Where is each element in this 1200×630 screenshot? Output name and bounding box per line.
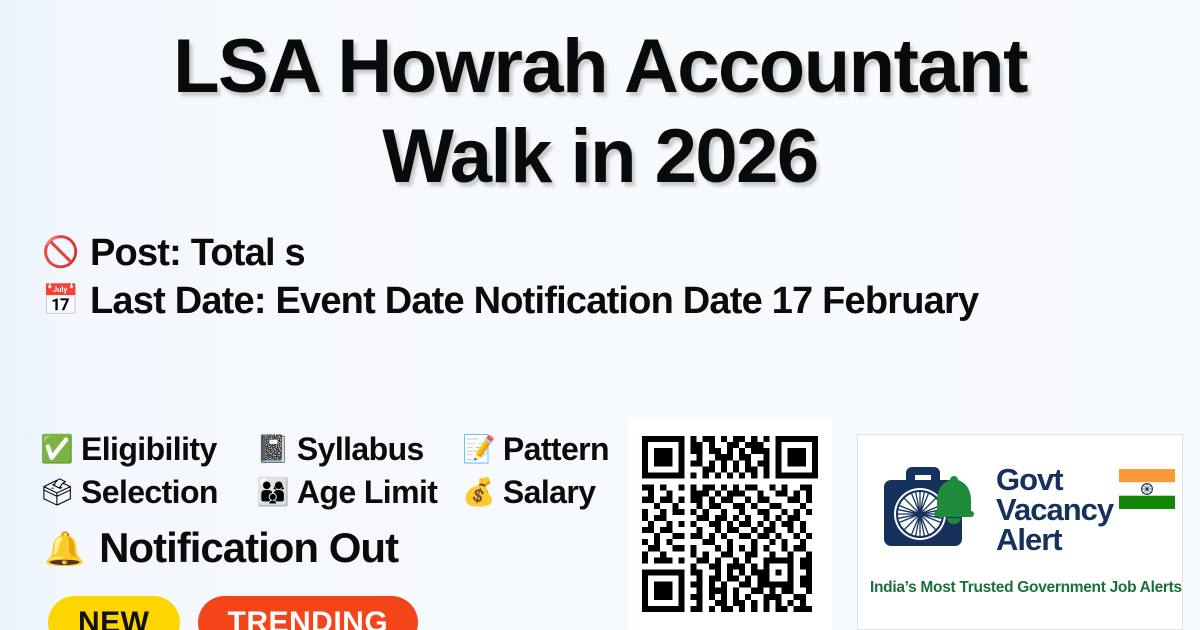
selection-icon: 🗳 (42, 479, 72, 506)
feature-eligibility[interactable]: ✅ Eligibility (42, 431, 258, 468)
briefcase-icon (870, 454, 988, 566)
feature-label: Salary (503, 474, 595, 511)
feature-row-1: ✅ Eligibility 📓 Syllabus 📝 Pattern (42, 428, 662, 471)
feature-selection[interactable]: 🗳 Selection (42, 474, 258, 511)
page-title: LSA Howrah Accountant Walk in 2026 (0, 0, 1200, 201)
notification-out-row: 🔔 Notification Out (44, 524, 398, 572)
bell-icon: 🔔 (44, 532, 85, 565)
check-mark-icon: ✅ (42, 436, 72, 463)
feature-grid: ✅ Eligibility 📓 Syllabus 📝 Pattern 🗳 Sel… (42, 428, 662, 514)
feature-label: Pattern (503, 431, 609, 468)
feature-label: Selection (81, 474, 218, 511)
title-line-1: LSA Howrah Accountant (0, 22, 1200, 112)
qr-card[interactable] (628, 417, 832, 630)
badge-new[interactable]: NEW (48, 596, 180, 630)
feature-label: Syllabus (297, 431, 424, 468)
briefcase-chakra-bell-logo-mark (870, 454, 988, 566)
no-entry-icon: 🚫 (44, 238, 78, 268)
logo-word-alert: Alert (996, 525, 1113, 555)
govt-vacancy-alert-logo-card[interactable]: Govt Vacancy Alert India’s Most Trusted … (857, 434, 1183, 630)
feature-label: Eligibility (81, 431, 217, 468)
money-bag-icon: 💰 (464, 479, 494, 506)
logo-main-row: Govt Vacancy Alert (870, 449, 1170, 571)
exam-paper-icon: 📝 (464, 436, 494, 463)
calendar-icon: 📅 (44, 286, 78, 316)
feature-syllabus[interactable]: 📓 Syllabus (258, 431, 464, 468)
logo-tagline: India’s Most Trusted Government Job Aler… (870, 579, 1170, 597)
logo-wordmark: Govt Vacancy Alert (996, 465, 1175, 555)
family-icon: 👨‍👩‍👦 (258, 479, 288, 506)
meta-block: 🚫 Post: Total s 📅 Last Date: Event Date … (0, 229, 1200, 325)
badge-trending[interactable]: TRENDING (198, 596, 419, 630)
notification-out-text: Notification Out (99, 524, 398, 572)
logo-word-vacancy: Vacancy (996, 495, 1113, 525)
feature-row-2: 🗳 Selection 👨‍👩‍👦 Age Limit 💰 Salary (42, 471, 662, 514)
feature-age-limit[interactable]: 👨‍👩‍👦 Age Limit (258, 474, 464, 511)
meta-row-last-date: 📅 Last Date: Event Date Notification Dat… (44, 277, 1200, 325)
meta-post-text: Post: Total s (90, 232, 305, 275)
logo-word-govt: Govt (996, 465, 1113, 495)
feature-label: Age Limit (297, 474, 437, 511)
india-flag-icon (1119, 469, 1175, 509)
title-line-2: Walk in 2026 (0, 112, 1200, 202)
qr-code[interactable] (642, 436, 818, 612)
meta-last-date-text: Last Date: Event Date Notification Date … (90, 280, 978, 323)
notebook-icon: 📓 (258, 436, 288, 463)
meta-row-post: 🚫 Post: Total s (44, 229, 1200, 277)
badge-row: NEW TRENDING (48, 596, 418, 630)
